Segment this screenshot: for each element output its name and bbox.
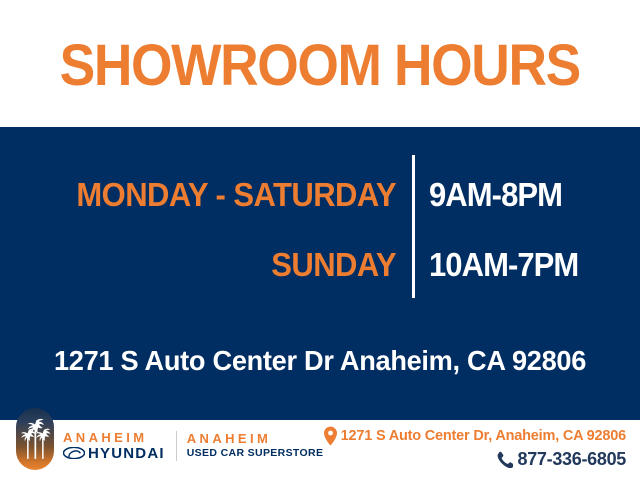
hours-time-value: 10AM-7PM: [429, 246, 578, 284]
map-pin-icon: [323, 426, 338, 446]
hours-days-label: MONDAY - SATURDAY: [24, 176, 396, 214]
hours-row: SUNDAY 10AM-7PM: [0, 239, 640, 291]
brand-name-anaheim: ANAHEIM: [63, 431, 165, 445]
anaheim-superstore-lockup: ANAHEIM USED CAR SUPERSTORE: [187, 418, 324, 459]
hours-panel: MONDAY - SATURDAY 9AM-8PM SUNDAY 10AM-7P…: [0, 127, 640, 420]
hyundai-oval-icon: [63, 447, 85, 459]
footer-address-text: 1271 S Auto Center Dr, Anaheim, CA 92806: [341, 428, 626, 444]
hours-table: MONDAY - SATURDAY 9AM-8PM SUNDAY 10AM-7P…: [0, 145, 640, 320]
anaheim-hyundai-lockup: ANAHEIM HYUNDAI: [63, 417, 165, 461]
brand-tagline-used-car-superstore: USED CAR SUPERSTORE: [187, 448, 324, 460]
header-banner: SHOWROOM HOURS: [0, 0, 640, 127]
footer-brand-lockups: ANAHEIM HYUNDAI ANAHEIM USED CAR SUPERST…: [16, 408, 323, 470]
footer-phone-text: 877-336-6805: [518, 449, 627, 470]
phone-icon: [496, 451, 513, 468]
footer-phone-row[interactable]: 877-336-6805: [323, 449, 626, 470]
footer-bar: ANAHEIM HYUNDAI ANAHEIM USED CAR SUPERST…: [0, 420, 640, 480]
hours-time-value: 9AM-8PM: [429, 176, 562, 214]
hours-days-label: SUNDAY: [24, 246, 396, 284]
footer-brand-divider: [176, 431, 177, 461]
brand-name-anaheim-superstore: ANAHEIM: [187, 432, 324, 446]
page-title: SHOWROOM HOURS: [60, 37, 580, 95]
footer-address-row[interactable]: 1271 S Auto Center Dr, Anaheim, CA 92806: [323, 426, 626, 446]
footer-contact: 1271 S Auto Center Dr, Anaheim, CA 92806…: [323, 426, 626, 470]
hours-row: MONDAY - SATURDAY 9AM-8PM: [0, 169, 640, 221]
palm-trees-icon: [16, 408, 54, 470]
brand-name-hyundai: HYUNDAI: [88, 446, 165, 461]
address-banner: 1271 S Auto Center Dr Anaheim, CA 92806: [10, 345, 631, 377]
